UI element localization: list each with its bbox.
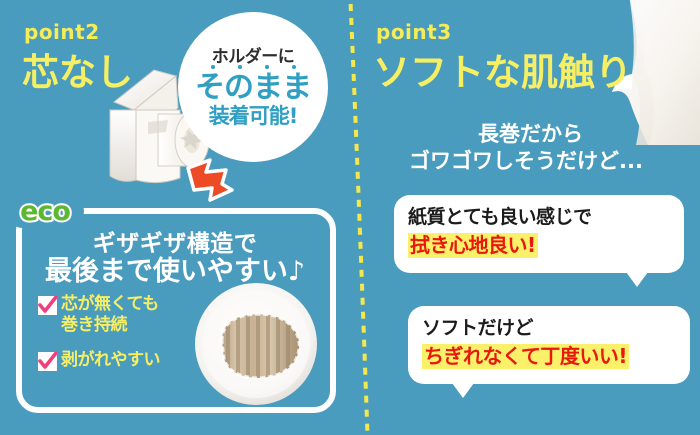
callout-2-tail: [452, 383, 474, 398]
review-callout-2: ソフトだけど ちぎれなくて丁度いい!: [408, 306, 690, 384]
eco-title-line-2: 最後まで使いやすい♪: [0, 249, 350, 288]
callout-1-tail: [626, 272, 648, 287]
point2-label: point2: [24, 20, 100, 44]
bubble-line-3: 装着可能!: [209, 105, 298, 128]
eco-check-list: 芯が無くても 巻き持続 剥がれやすい: [38, 294, 208, 384]
bubble-line-2-text: そのまま: [195, 70, 311, 105]
point2-heading: 芯なし: [22, 42, 133, 96]
callout-2-plain-text: ソフトだけど: [422, 317, 676, 341]
list-item: 芯が無くても 巻き持続: [38, 294, 208, 337]
check-icon: [38, 296, 57, 315]
check-item-text: 剥がれやすい: [61, 350, 160, 371]
check-item-line-2: 巻き持続: [61, 315, 127, 335]
point3-heading: ソフトな肌触り: [373, 42, 632, 96]
list-item: 剥がれやすい: [38, 350, 208, 371]
check-icon: [38, 352, 57, 371]
right-subtitle-line-1: 長巻だから: [478, 118, 583, 148]
infographic-page: point2 芯なし: [0, 0, 700, 435]
eco-badge: eco: [6, 194, 84, 228]
callout-2-highlight-text: ちぎれなくて丁度いい!: [422, 344, 629, 369]
red-arrow-cursor-icon: [182, 156, 238, 204]
installation-speech-bubble: ホルダーに そのまま 装着可能!: [178, 12, 328, 162]
emphasis-dots: [195, 65, 311, 69]
callout-1-plain-text: 紙質とても良い感じで: [408, 206, 670, 230]
check-item-text: 芯が無くても 巻き持続: [61, 294, 159, 337]
right-subtitle-line-2: ゴワゴワしそうだけど...: [409, 145, 643, 175]
bubble-line-2: そのまま: [195, 72, 311, 104]
review-callout-1: 紙質とても良い感じで 拭き心地良い!: [394, 195, 684, 273]
callout-1-highlight-text: 拭き心地良い!: [408, 233, 538, 258]
point3-label: point3: [376, 20, 452, 44]
eco-badge-label: eco: [20, 198, 70, 225]
check-item-line-1: 剥がれやすい: [61, 350, 160, 370]
left-panel: point2 芯なし: [0, 0, 350, 435]
check-item-line-1: 芯が無くても: [61, 294, 159, 314]
